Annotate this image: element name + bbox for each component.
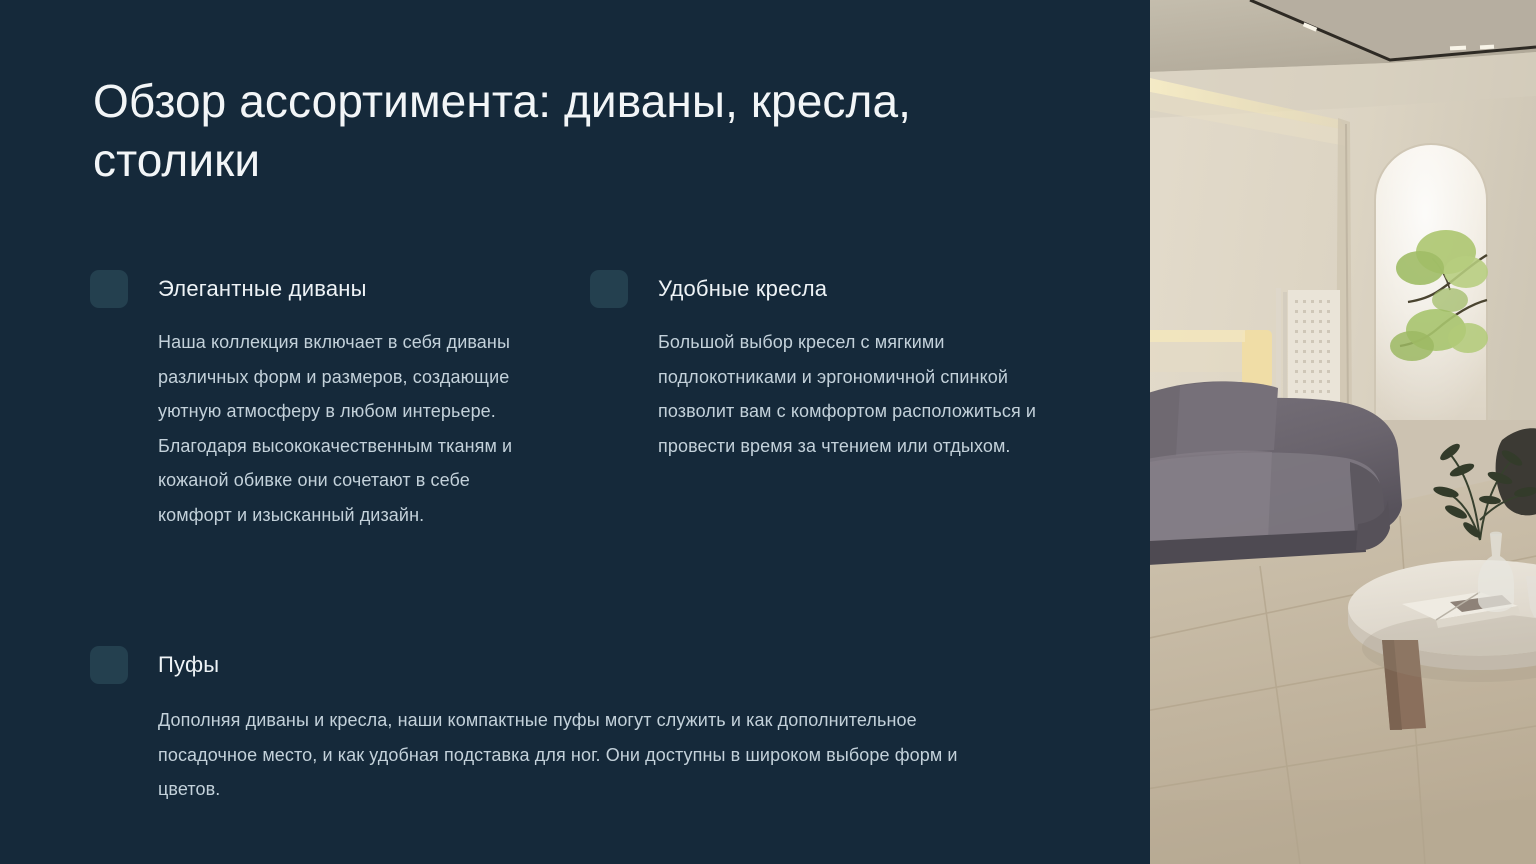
bullet-marker-armchairs bbox=[590, 270, 628, 308]
bullet-marker-poufs bbox=[90, 646, 128, 684]
bottom-vignette bbox=[1150, 800, 1536, 864]
content-panel: Обзор ассортимента: диваны, кресла, стол… bbox=[0, 0, 1150, 864]
block-heading-sofas: Элегантные диваны bbox=[158, 276, 367, 302]
wall-light-panel bbox=[1242, 330, 1272, 388]
ceiling-spot-2 bbox=[1450, 46, 1466, 51]
page-title: Обзор ассортимента: диваны, кресла, стол… bbox=[93, 72, 973, 190]
bullet-marker-sofas bbox=[90, 270, 128, 308]
wall-light-falloff bbox=[1150, 342, 1242, 372]
ceiling-spot-3 bbox=[1480, 45, 1494, 50]
interior-photo bbox=[1150, 0, 1536, 864]
sofa-cushion-2 bbox=[1176, 382, 1278, 456]
sofa bbox=[1150, 381, 1402, 566]
interior-illustration bbox=[1150, 0, 1536, 864]
slide: Обзор ассортимента: диваны, кресла, стол… bbox=[0, 0, 1536, 864]
block-heading-armchairs: Удобные кресла bbox=[658, 276, 827, 302]
wall-light-strip bbox=[1150, 330, 1245, 342]
block-body-sofas: Наша коллекция включает в себя диваны ра… bbox=[158, 325, 538, 532]
block-body-armchairs: Большой выбор кресел с мягкими подлокотн… bbox=[658, 325, 1058, 463]
block-body-poufs: Дополняя диваны и кресла, наши компактны… bbox=[158, 703, 988, 807]
block-heading-poufs: Пуфы bbox=[158, 652, 219, 678]
